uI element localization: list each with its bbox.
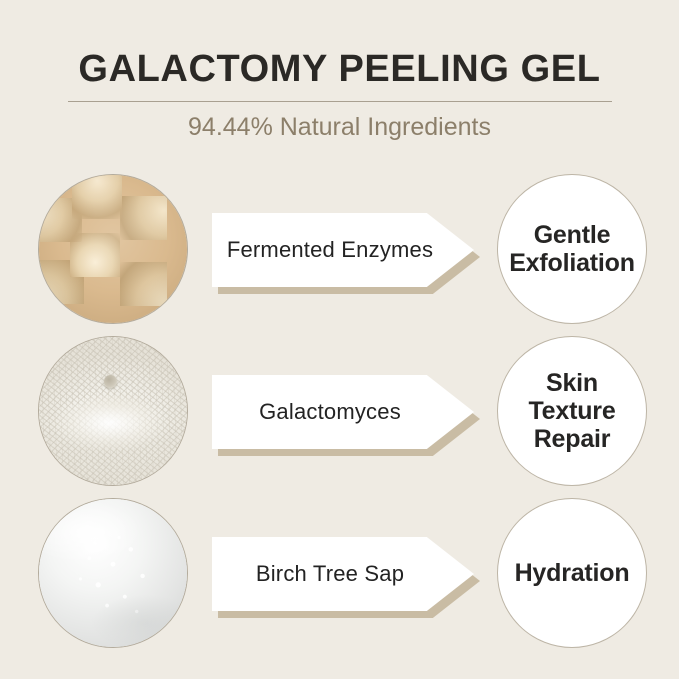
benefit-circle: Skin Texture Repair — [497, 336, 647, 486]
benefit-label: Gentle Exfoliation — [498, 221, 646, 277]
banner-arrow: Fermented Enzymes — [212, 213, 474, 287]
ingredient-row: Birch Tree Sap Hydration — [0, 498, 679, 650]
ingredient-label: Birch Tree Sap — [256, 561, 430, 587]
ingredient-banner: Galactomyces — [212, 375, 474, 449]
ingredient-label: Fermented Enzymes — [227, 237, 459, 263]
galactomyces-rice-image — [39, 337, 187, 485]
header: GALACTOMY PEELING GEL 94.44% Natural Ing… — [0, 0, 679, 160]
page-subtitle: 94.44% Natural Ingredients — [0, 111, 679, 143]
ingredient-banner: Birch Tree Sap — [212, 537, 474, 611]
benefit-label: Skin Texture Repair — [498, 369, 646, 453]
title-divider — [68, 101, 612, 102]
soybeans-image — [39, 175, 187, 323]
benefit-circle: Gentle Exfoliation — [497, 174, 647, 324]
benefit-circle: Hydration — [497, 498, 647, 648]
benefit-label: Hydration — [498, 559, 646, 587]
ingredient-label: Galactomyces — [259, 399, 427, 425]
ingredient-row: Galactomyces Skin Texture Repair — [0, 336, 679, 488]
banner-arrow: Galactomyces — [212, 375, 474, 449]
soybeans-photo — [38, 174, 188, 324]
ingredient-banner: Fermented Enzymes — [212, 213, 474, 287]
banner-arrow: Birch Tree Sap — [212, 537, 474, 611]
galactomyces-rice-photo — [38, 336, 188, 486]
birch-sap-gel-image — [39, 499, 187, 647]
page-title: GALACTOMY PEELING GEL — [0, 47, 679, 91]
birch-sap-gel-photo — [38, 498, 188, 648]
ingredient-row: Fermented Enzymes Gentle Exfoliation — [0, 174, 679, 326]
